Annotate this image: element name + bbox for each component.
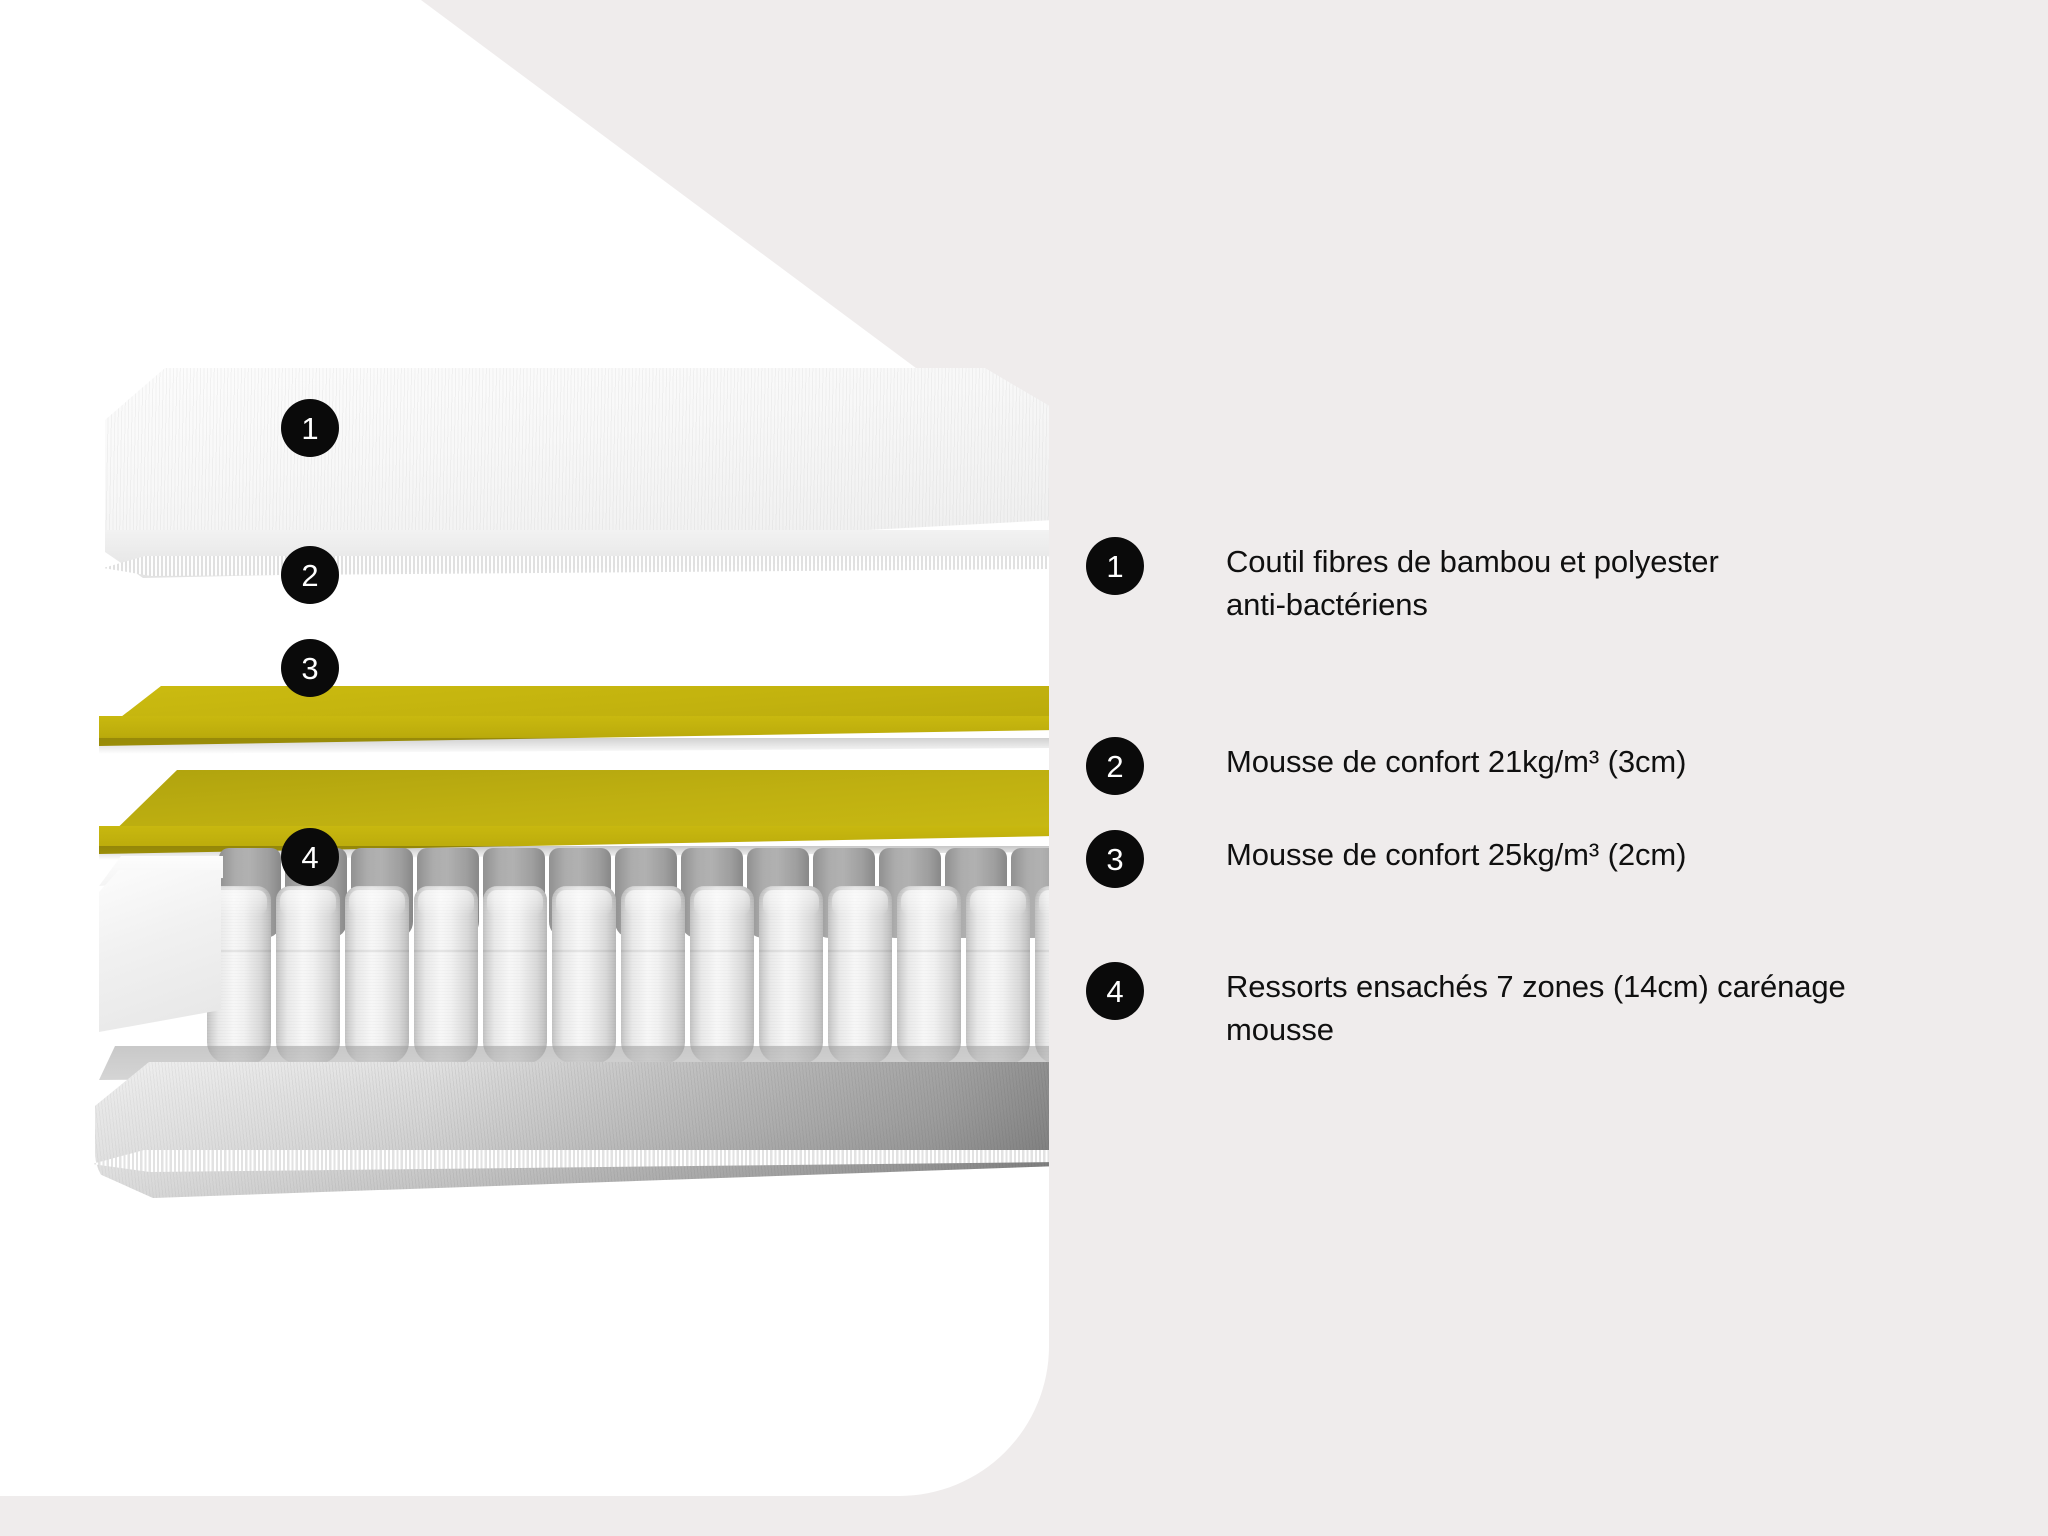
legend-item-1[interactable]: 1 Coutil fibres de bambou et polyester a…	[1086, 537, 1719, 627]
pocket-spring	[897, 886, 961, 1064]
legend-badge-2: 2	[1086, 737, 1144, 795]
cover-piping-trim	[103, 556, 1049, 576]
pocket-springs-front-row	[207, 886, 1049, 1064]
foam-layer-2-shadow	[99, 738, 1049, 754]
mattress-illustration: 1 2 3 4	[0, 0, 1049, 1536]
pocket-spring	[345, 886, 409, 1064]
legend-item-3[interactable]: 3 Mousse de confort 25kg/m³ (2cm)	[1086, 830, 1686, 888]
pocket-spring	[759, 886, 823, 1064]
pocket-spring	[483, 886, 547, 1064]
legend-label-3: Mousse de confort 25kg/m³ (2cm)	[1226, 834, 1686, 877]
layer-pin-3[interactable]: 3	[281, 639, 339, 697]
legend-label-2: Mousse de confort 21kg/m³ (3cm)	[1226, 741, 1686, 784]
legend-item-2[interactable]: 2 Mousse de confort 21kg/m³ (3cm)	[1086, 737, 1686, 795]
edge-foam-block	[99, 870, 221, 1032]
pocket-spring	[552, 886, 616, 1064]
legend-badge-1: 1	[1086, 537, 1144, 595]
pocket-spring	[621, 886, 685, 1064]
legend-label-1: Coutil fibres de bambou et polyester ant…	[1226, 541, 1719, 627]
layer-pin-2[interactable]: 2	[281, 546, 339, 604]
pocket-spring	[690, 886, 754, 1064]
pocket-springs-layer	[99, 848, 1049, 1066]
layer-pin-4[interactable]: 4	[281, 828, 339, 886]
legend-list: 1 Coutil fibres de bambou et polyester a…	[1086, 0, 2046, 1536]
pocket-spring	[966, 886, 1030, 1064]
legend-badge-4: 4	[1086, 962, 1144, 1020]
legend-label-4: Ressorts ensachés 7 zones (14cm) carénag…	[1226, 966, 1846, 1052]
legend-item-4[interactable]: 4 Ressorts ensachés 7 zones (14cm) carén…	[1086, 962, 1846, 1052]
pocket-spring	[1035, 886, 1049, 1064]
base-fabric-shading	[95, 1062, 1049, 1198]
mattress-cutaway-infographic: 1 2 3 4 1 Coutil fibres de bambou et pol…	[0, 0, 2048, 1536]
pocket-spring	[414, 886, 478, 1064]
layer-pin-1[interactable]: 1	[281, 399, 339, 457]
pocket-spring	[276, 886, 340, 1064]
legend-badge-3: 3	[1086, 830, 1144, 888]
pocket-spring	[828, 886, 892, 1064]
